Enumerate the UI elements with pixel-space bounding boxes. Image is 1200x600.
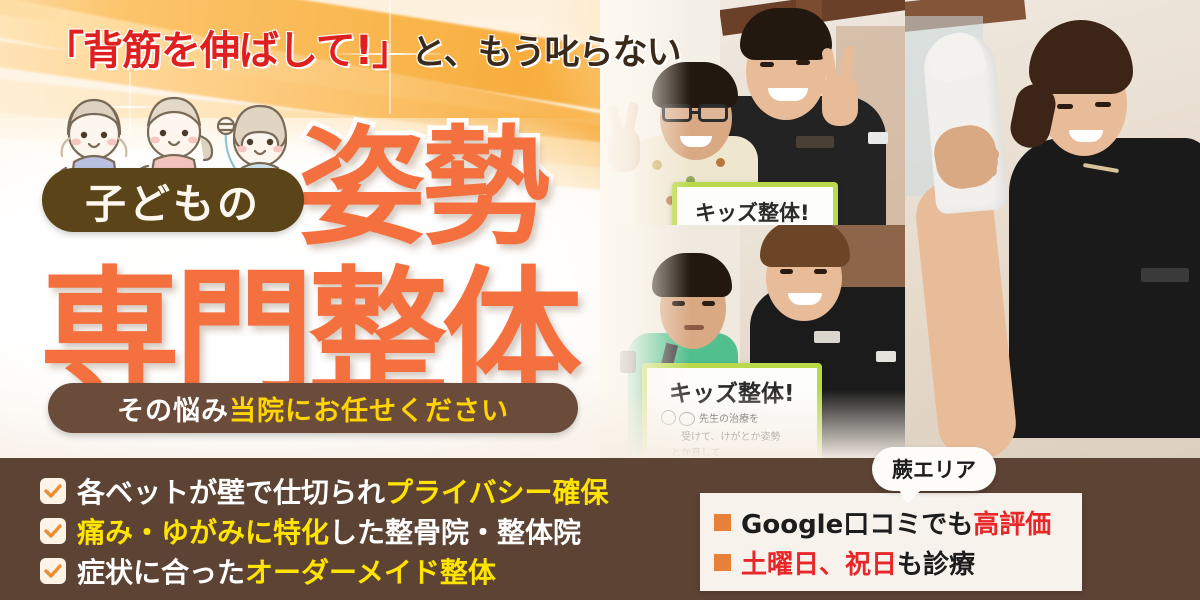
- feature-list: 各ベットが壁で仕切られプライバシー確保 痛み・ゆがみに特化した整骨院・整体院 症…: [40, 472, 608, 592]
- list-item: 症状に合ったオーダーメイド整体: [40, 552, 608, 590]
- info-row: Google口コミでも高評価: [714, 502, 1082, 542]
- badge-kodomo-label: 子どもの: [85, 170, 261, 230]
- info-1-plain: Google口コミでも: [741, 510, 973, 540]
- feature-3-plain: 症状に合った: [77, 556, 245, 589]
- info-2-plain: も診療: [897, 550, 975, 580]
- ad-banner: キッズ整体! 楽しく話して もらって嬉 キッズ整体!: [0, 0, 1200, 600]
- list-item: 各ベットが壁で仕切られプライバシー確保: [40, 472, 608, 510]
- headline-quoted: 「背筋を伸ばして!」: [44, 28, 411, 74]
- badge-kodomo: 子どもの: [42, 168, 304, 232]
- list-item: 痛み・ゆがみに特化した整骨院・整体院: [40, 512, 608, 550]
- info-1-highlight: 高評価: [973, 510, 1051, 540]
- info-2-highlight: 土曜日、祝日: [741, 550, 897, 580]
- area-badge-label: 蕨エリア: [892, 454, 976, 484]
- info-card: Google口コミでも高評価 土曜日、祝日も診療: [700, 493, 1082, 591]
- subtitle-highlight: 当院にお任せください: [229, 389, 509, 428]
- subtitle-plain: その悩み: [117, 389, 229, 428]
- square-bullet-icon: [714, 554, 731, 571]
- area-badge: 蕨エリア: [872, 447, 996, 491]
- check-icon: [40, 478, 66, 504]
- feature-2-plain: した整骨院・整体院: [329, 516, 581, 549]
- check-icon: [40, 518, 66, 544]
- feature-1-highlight: プライバシー確保: [385, 476, 608, 509]
- feature-1-plain: 各ベットが壁で仕切られ: [77, 476, 385, 509]
- whiteboard-top-title: キッズ整体!: [695, 197, 810, 227]
- headline: 「背筋を伸ばして!」と、もう叱らない: [44, 18, 681, 76]
- info-row: 土曜日、祝日も診療: [714, 542, 1082, 582]
- feature-3-highlight: オーダーメイド整体: [245, 556, 496, 589]
- feature-2-highlight: 痛み・ゆがみに特化: [77, 516, 329, 549]
- square-bullet-icon: [714, 514, 731, 531]
- headline-rest: と、もう叱らない: [411, 33, 681, 73]
- check-icon: [40, 558, 66, 584]
- subtitle-bar: その悩み 当院にお任せください: [48, 383, 578, 433]
